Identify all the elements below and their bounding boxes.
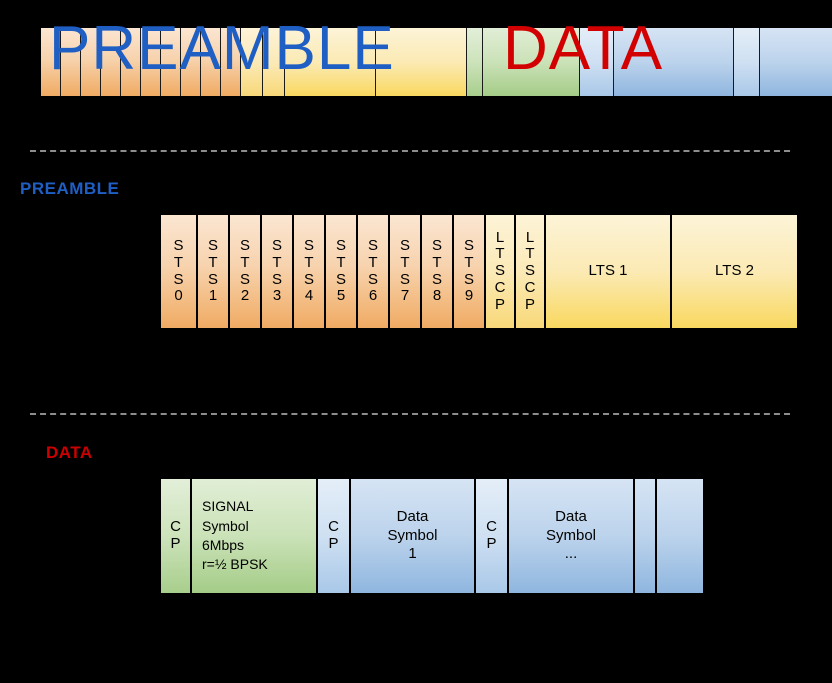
- data-cell-data-tail2: [657, 479, 703, 593]
- preamble-label-ltscp1: LTSCP: [495, 230, 506, 314]
- data-cell-data-tail1: [635, 479, 657, 593]
- data-label-signal: SIGNALSymbol6Mbpsr=½ BPSK: [192, 497, 316, 574]
- preamble-label-lts1: LTS 1: [589, 262, 628, 281]
- packet-overview-banner: [41, 28, 803, 96]
- preamble-label-sts6: STS6: [368, 238, 378, 305]
- data-label-data1: DataSymbol1: [387, 508, 437, 564]
- separator-top: [30, 150, 790, 152]
- overview-segment-dat-19: [760, 28, 832, 96]
- overview-segment-sig-15: [483, 28, 580, 96]
- overview-segment-sts-3: [101, 28, 121, 96]
- preamble-label-sts3: STS3: [272, 238, 282, 305]
- data-cell-data1: DataSymbol1: [351, 479, 476, 593]
- overview-segment-sts-2: [81, 28, 101, 96]
- preamble-label-sts4: STS4: [304, 238, 314, 305]
- overview-segment-sts-4: [121, 28, 141, 96]
- data-label-cp-data1: CP: [328, 519, 339, 553]
- preamble-cell-sts9: STS9: [454, 215, 486, 328]
- preamble-label-sts5: STS5: [336, 238, 346, 305]
- overview-segment-cpdat-16: [580, 28, 614, 96]
- section-label-preamble: PREAMBLE: [20, 179, 119, 199]
- preamble-cell-ltscp1: LTSCP: [486, 215, 516, 328]
- overview-segment-cpsig-14: [467, 28, 483, 96]
- overview-segment-ltscp-10: [241, 28, 263, 96]
- overview-segment-sts-0: [41, 28, 61, 96]
- preamble-label-sts7: STS7: [400, 238, 410, 305]
- preamble-cell-sts8: STS8: [422, 215, 454, 328]
- data-cell-signal: SIGNALSymbol6Mbpsr=½ BPSK: [192, 479, 318, 593]
- preamble-cell-lts2: LTS 2: [672, 215, 797, 328]
- preamble-cell-ltscp2: LTSCP: [516, 215, 546, 328]
- preamble-cell-sts3: STS3: [262, 215, 294, 328]
- preamble-cell-sts6: STS6: [358, 215, 390, 328]
- overview-segment-lts-13: [376, 28, 467, 96]
- overview-segment-sts-8: [201, 28, 221, 96]
- preamble-cell-lts1: LTS 1: [546, 215, 672, 328]
- preamble-label-lts2: LTS 2: [715, 262, 754, 281]
- overview-segment-sts-5: [141, 28, 161, 96]
- overview-segment-sts-7: [181, 28, 201, 96]
- preamble-label-sts9: STS9: [464, 238, 474, 305]
- data-cell-cp-data2: CP: [476, 479, 509, 593]
- preamble-label-ltscp2: LTSCP: [525, 230, 536, 314]
- data-cell-data2: DataSymbol...: [509, 479, 635, 593]
- data-cell-cp-data1: CP: [318, 479, 351, 593]
- data-label-cp-data2: CP: [486, 519, 497, 553]
- preamble-label-sts8: STS8: [432, 238, 442, 305]
- preamble-cell-sts5: STS5: [326, 215, 358, 328]
- data-cell-cp-signal: CP: [161, 479, 192, 593]
- preamble-label-sts2: STS2: [240, 238, 250, 305]
- data-detail-row: CPSIGNALSymbol6Mbpsr=½ BPSKCPDataSymbol1…: [160, 478, 712, 594]
- overview-segment-sts-6: [161, 28, 181, 96]
- section-label-data: DATA: [46, 443, 93, 463]
- separator-bottom: [30, 413, 790, 415]
- overview-segment-cpdat-18: [734, 28, 760, 96]
- preamble-cell-sts4: STS4: [294, 215, 326, 328]
- overview-segment-sts-1: [61, 28, 81, 96]
- overview-segment-ltscp-11: [263, 28, 285, 96]
- preamble-detail-row: STS0STS1STS2STS3STS4STS5STS6STS7STS8STS9…: [160, 214, 796, 329]
- overview-segment-dat-17: [614, 28, 734, 96]
- preamble-label-sts0: STS0: [173, 238, 183, 305]
- data-label-data2: DataSymbol...: [546, 508, 596, 564]
- preamble-label-sts1: STS1: [208, 238, 218, 305]
- preamble-cell-sts7: STS7: [390, 215, 422, 328]
- preamble-cell-sts2: STS2: [230, 215, 262, 328]
- preamble-cell-sts0: STS0: [161, 215, 198, 328]
- preamble-cell-sts1: STS1: [198, 215, 230, 328]
- data-label-cp-signal: CP: [170, 519, 181, 553]
- overview-segment-lts-12: [285, 28, 376, 96]
- overview-segment-sts-9: [221, 28, 241, 96]
